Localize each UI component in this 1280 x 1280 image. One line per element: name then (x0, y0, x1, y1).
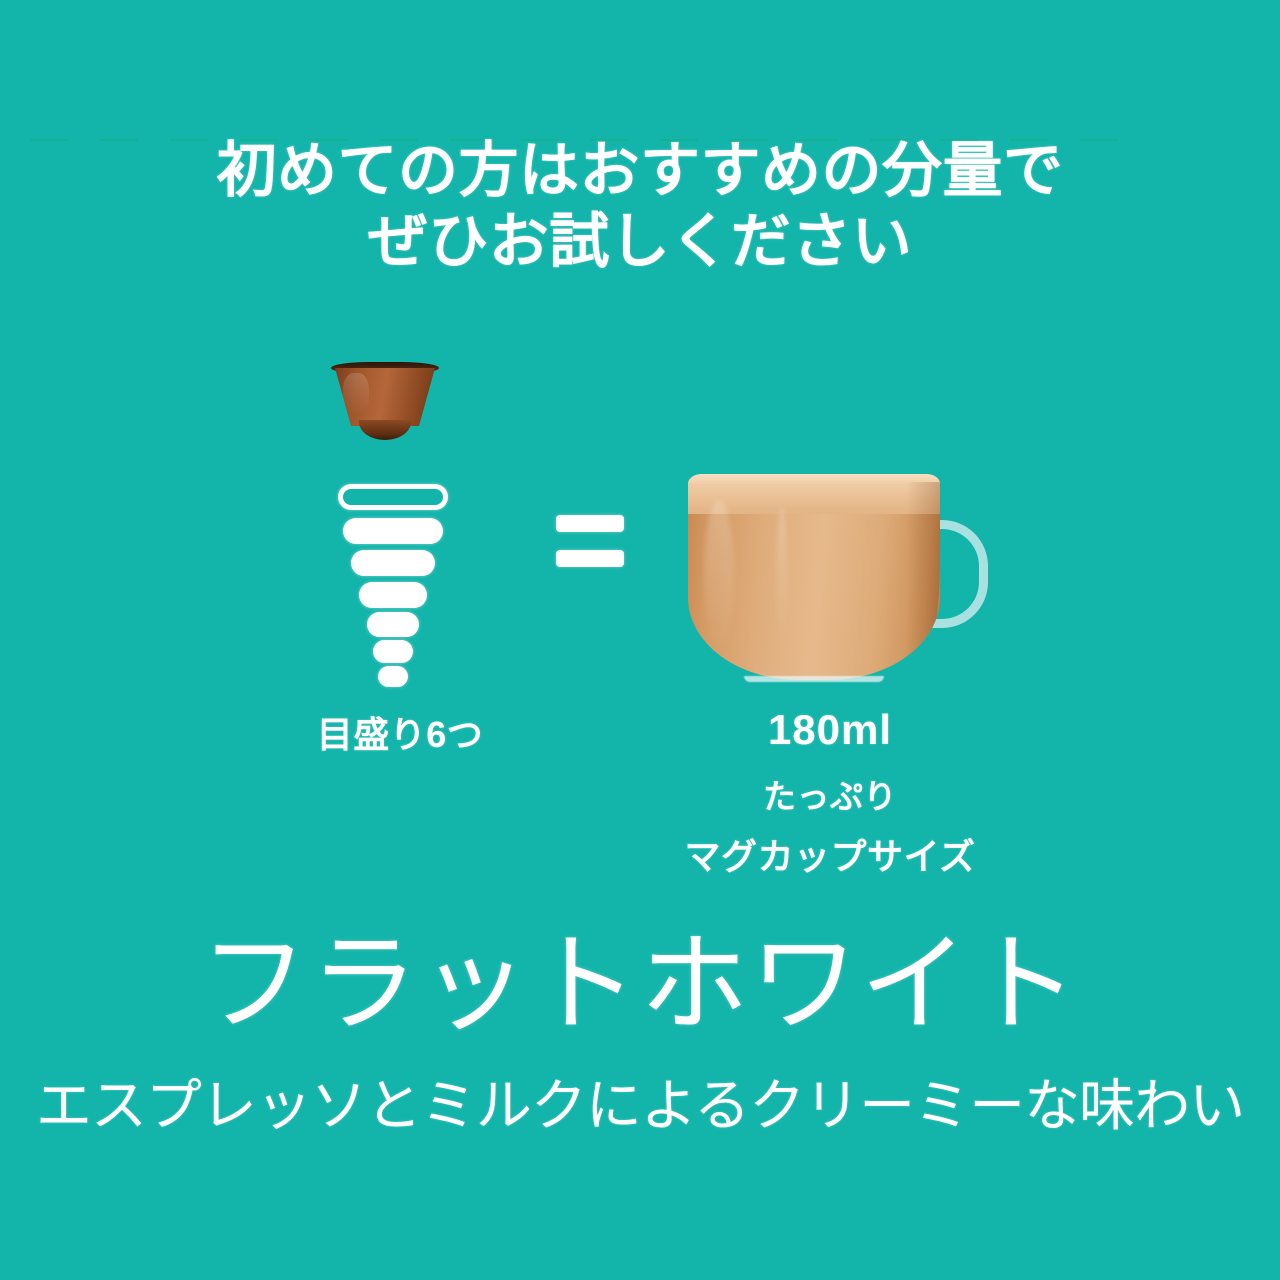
mug-body (688, 474, 940, 680)
mug-shadow-right (906, 482, 940, 668)
cup-size-line-2: マグカップサイズ (620, 828, 1040, 880)
mug-base (744, 676, 884, 682)
capsule-body (335, 368, 435, 426)
equals-icon (556, 515, 624, 569)
dolce-gusto-capsule-icon (331, 362, 439, 442)
gauge-mark-5 (373, 640, 413, 663)
cup-size-line-1: たっぷり (620, 770, 1040, 818)
headline-line-2: ぜひお試しください (0, 207, 1280, 278)
product-name: フラットホワイト (0, 930, 1280, 1038)
glass-mug-icon (688, 474, 988, 686)
cup-caption: 180ml たっぷり マグカップサイズ (620, 706, 1040, 880)
mug-highlight-left (704, 500, 734, 650)
mug-highlight-inner (776, 508, 788, 648)
capsule-base (359, 420, 411, 440)
promo-banner: 初めての方はおすすめの分量で ぜひお試しください 目盛り6つ (0, 0, 1280, 1280)
gauge-mark-1 (343, 518, 443, 544)
equals-bar-top (556, 515, 624, 532)
gauge-mark-3 (359, 582, 427, 608)
headline: 初めての方はおすすめの分量で ぜひお試しください (0, 136, 1280, 278)
gauge-mark-2 (351, 550, 435, 576)
gauge-mark-6 (378, 666, 408, 687)
headline-line-1: 初めての方はおすすめの分量で (217, 137, 1064, 204)
water-level-gauge-icon (338, 484, 448, 674)
water-level-caption: 目盛り6つ (250, 706, 550, 758)
gauge-mark-0 (338, 484, 448, 510)
cup-volume: 180ml (620, 706, 1040, 754)
equals-bar-bottom (556, 550, 624, 567)
gauge-mark-4 (367, 612, 419, 637)
product-description: エスプレッソとミルクによるクリーミーな味わい (0, 1078, 1280, 1134)
